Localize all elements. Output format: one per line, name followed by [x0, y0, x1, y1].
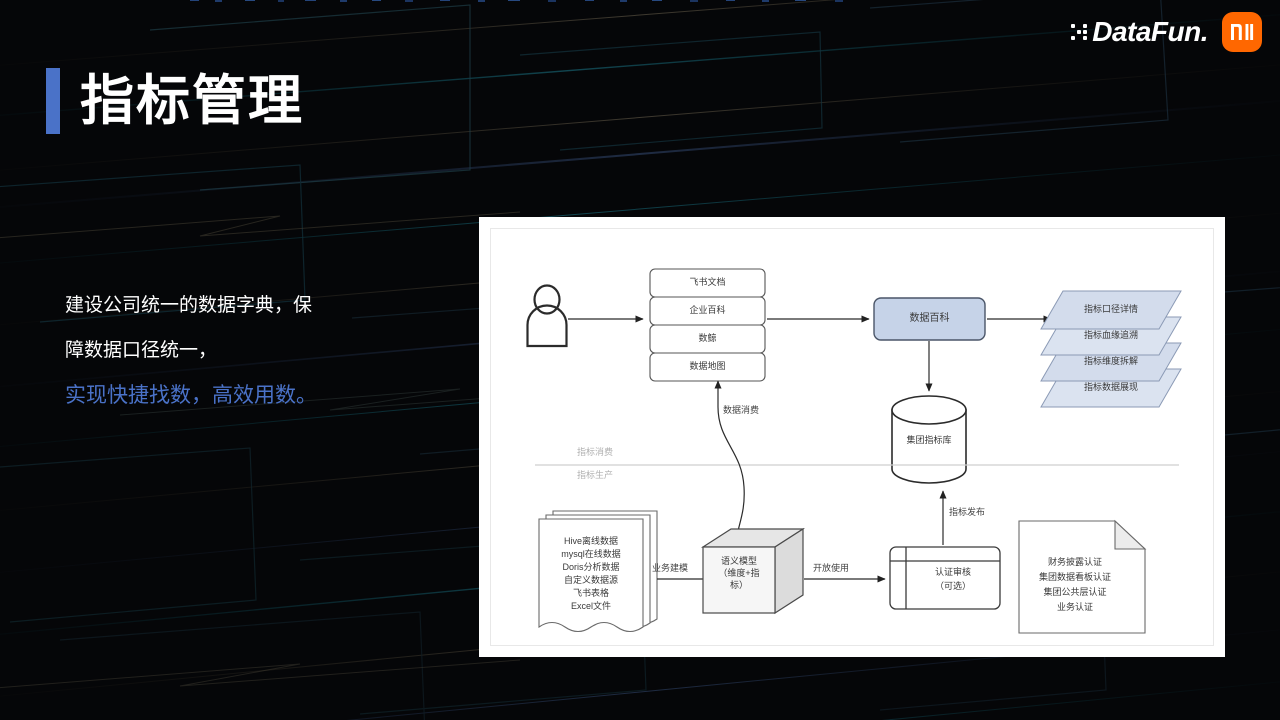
- xiaomi-mi-logo-icon: [1222, 12, 1262, 52]
- title-accent-bar: [46, 68, 60, 134]
- description-line-2: 障数据口径统一，: [65, 328, 395, 373]
- page-title: 指标管理: [80, 74, 304, 128]
- sources-doc-label[interactable]: Hive离线数据 mysql在线数据 Doris分析数据 自定义数据源 飞书表格…: [539, 535, 643, 613]
- output-layer-1-label[interactable]: 指标血缘追溯: [1041, 330, 1181, 341]
- user-person-icon: [528, 286, 567, 347]
- output-layer-0-label[interactable]: 指标口径详情: [1041, 304, 1181, 315]
- repository-label[interactable]: 集团指标库: [892, 435, 966, 446]
- diagram-panel-inner-border: 飞书文档 企业百科 数鲸 数据地图 数据百科 指标口径详情 指标血缘追溯 指标维…: [490, 228, 1214, 646]
- brand-logos: DataFun.: [1071, 12, 1262, 52]
- description-text-block: 建设公司统一的数据字典，保 障数据口径统一， 实现快捷找数，高效用数。: [65, 283, 395, 418]
- certification-line-2: 集团公共层认证: [1043, 587, 1106, 597]
- sources-doc-line-0: Hive离线数据: [564, 536, 618, 546]
- business-modeling-arrow-label: 业务建模: [652, 561, 688, 574]
- hub-label[interactable]: 数据百科: [874, 313, 985, 324]
- semantic-model-label[interactable]: 语义模型 （维度+指 标）: [703, 555, 775, 591]
- semantic-model-line-0: 语义模型: [721, 556, 757, 566]
- review-box-label[interactable]: 认证审核 （可选）: [906, 565, 1000, 593]
- description-line-3: 实现快捷找数，高效用数。: [65, 373, 395, 418]
- stack-item-3-label[interactable]: 数据地图: [650, 361, 765, 372]
- sources-doc-line-3: 自定义数据源: [564, 575, 618, 585]
- review-line-1: （可选）: [935, 581, 971, 591]
- certification-line-1: 集团数据看板认证: [1039, 572, 1111, 582]
- semantic-model-line-2: 标）: [730, 580, 748, 590]
- metric-architecture-diagram: 飞书文档 企业百科 数鲸 数据地图 数据百科 指标口径详情 指标血缘追溯 指标维…: [491, 229, 1213, 645]
- stack-item-2-label[interactable]: 数鲸: [650, 333, 765, 344]
- open-usage-arrow-label: 开放使用: [813, 561, 849, 574]
- description-line-1: 建设公司统一的数据字典，保: [65, 283, 395, 328]
- sources-doc-line-5: Excel文件: [571, 601, 611, 611]
- divider-label-above: 指标消费: [577, 445, 613, 458]
- data-consumption-arrow-label: 数据消费: [723, 403, 759, 416]
- certification-line-0: 财务披露认证: [1048, 557, 1102, 567]
- stack-item-0-label[interactable]: 飞书文档: [650, 277, 765, 288]
- sources-doc-line-4: 飞书表格: [573, 588, 609, 598]
- output-layer-3-label[interactable]: 指标数据展现: [1041, 382, 1181, 393]
- divider-label-below: 指标生产: [577, 468, 613, 481]
- review-line-0: 认证审核: [935, 567, 971, 577]
- output-layer-2-label[interactable]: 指标维度拆解: [1041, 356, 1181, 367]
- datafun-dots-icon: [1071, 24, 1087, 40]
- sources-doc-line-2: Doris分析数据: [562, 562, 619, 572]
- mi-glyph: [1230, 23, 1254, 41]
- stack-item-1-label[interactable]: 企业百科: [650, 305, 765, 316]
- slide-title-block: 指标管理: [46, 68, 304, 134]
- datafun-wordmark: DataFun.: [1092, 16, 1208, 48]
- semantic-model-line-1: （维度+指: [718, 568, 759, 578]
- certification-line-3: 业务认证: [1057, 602, 1093, 612]
- certifications-label[interactable]: 财务披露认证 集团数据看板认证 集团公共层认证 业务认证: [1019, 555, 1131, 615]
- datafun-logo: DataFun.: [1071, 16, 1208, 48]
- metric-publish-arrow-label: 指标发布: [949, 505, 985, 518]
- sources-doc-line-1: mysql在线数据: [561, 549, 621, 559]
- diagram-panel: 飞书文档 企业百科 数鲸 数据地图 数据百科 指标口径详情 指标血缘追溯 指标维…: [480, 218, 1224, 656]
